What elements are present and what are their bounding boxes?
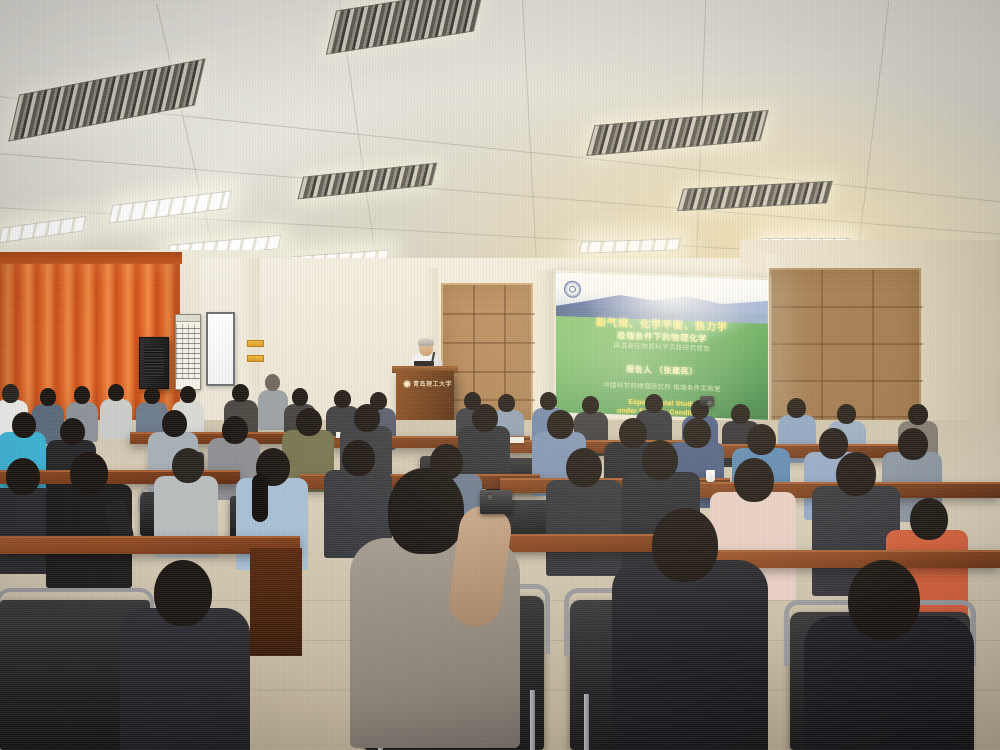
slide-affiliation: 中国科学院物理研究所 极端条件实验室 xyxy=(556,377,768,395)
person-head xyxy=(12,412,36,438)
wall-sign-plate xyxy=(247,355,264,362)
person-head xyxy=(60,418,85,445)
person-head xyxy=(734,458,774,502)
person-head xyxy=(819,428,848,459)
person-head xyxy=(642,440,678,480)
person-head xyxy=(2,384,19,403)
person-head xyxy=(731,404,750,424)
person-head xyxy=(747,424,776,455)
slide-presenter: 报告人 （张建民） xyxy=(556,361,768,380)
university-emblem-icon xyxy=(564,280,581,298)
person-head xyxy=(787,398,806,418)
podium-institution-label: 青岛理工大学 xyxy=(413,379,452,388)
panel-grid-line xyxy=(443,399,535,401)
person-torso xyxy=(546,480,622,576)
person-torso xyxy=(100,399,132,439)
notice-poster-rows xyxy=(176,324,200,379)
person-head xyxy=(40,388,56,406)
notice-poster-header xyxy=(176,315,200,322)
handheld-camera xyxy=(700,396,714,406)
lecture-hall-photo: 新气候、化学平衡、热力学 极端条件下的物理化学 高温高压物质科学实验研究报告 报… xyxy=(0,0,1000,750)
person-head xyxy=(222,416,248,444)
person-head xyxy=(566,448,602,487)
panel-grid-line xyxy=(771,343,923,345)
handheld-camera xyxy=(480,490,512,514)
panel-grid-line xyxy=(771,380,923,382)
person-head xyxy=(334,390,351,408)
person-head xyxy=(582,396,599,414)
desk-modesty-panel xyxy=(250,548,302,656)
person-head xyxy=(547,410,574,439)
panel-grid-line xyxy=(443,313,535,315)
whiteboard xyxy=(206,312,235,386)
person-head xyxy=(836,452,876,496)
person-head xyxy=(74,386,90,404)
person-head xyxy=(6,458,40,495)
person-head xyxy=(910,498,948,540)
person-head xyxy=(144,387,160,404)
person-head xyxy=(619,418,647,448)
wood-acoustic-panel xyxy=(441,283,533,423)
person-head xyxy=(172,448,204,483)
person-head xyxy=(154,560,212,626)
chair-leg xyxy=(584,694,589,750)
wall-sign-plate xyxy=(247,340,264,347)
person-torso xyxy=(120,608,250,750)
person-torso xyxy=(612,560,768,750)
person-head xyxy=(898,428,928,460)
podium-nameplate: 青岛理工大学 xyxy=(401,378,449,389)
person-ponytail xyxy=(252,474,268,522)
paper-cup xyxy=(706,470,715,482)
chair-leg xyxy=(530,690,535,750)
person-head xyxy=(70,452,108,494)
presenter-hair xyxy=(418,338,434,346)
person-head xyxy=(354,404,380,432)
curtain-rail xyxy=(0,252,182,264)
panel-grid-line xyxy=(771,306,923,308)
person-head xyxy=(837,404,856,424)
person-head xyxy=(162,410,187,437)
person-head xyxy=(652,508,718,582)
person-head xyxy=(908,404,928,425)
person-head xyxy=(342,440,375,476)
person-head xyxy=(265,374,280,391)
person-head xyxy=(645,394,663,413)
person-head xyxy=(388,468,464,554)
person-head xyxy=(292,388,308,406)
panel-grid-line xyxy=(443,342,535,344)
person-head xyxy=(232,384,249,402)
person-head xyxy=(180,386,196,403)
person-head xyxy=(296,408,322,436)
person-head xyxy=(108,384,124,401)
person-head xyxy=(540,392,557,410)
person-head xyxy=(472,404,498,432)
university-seal-icon xyxy=(403,380,411,388)
person-head xyxy=(848,560,920,640)
wall-mounted-loudspeaker xyxy=(139,337,169,389)
notice-poster xyxy=(175,314,201,390)
person-head xyxy=(498,394,515,412)
person-head xyxy=(683,418,711,448)
